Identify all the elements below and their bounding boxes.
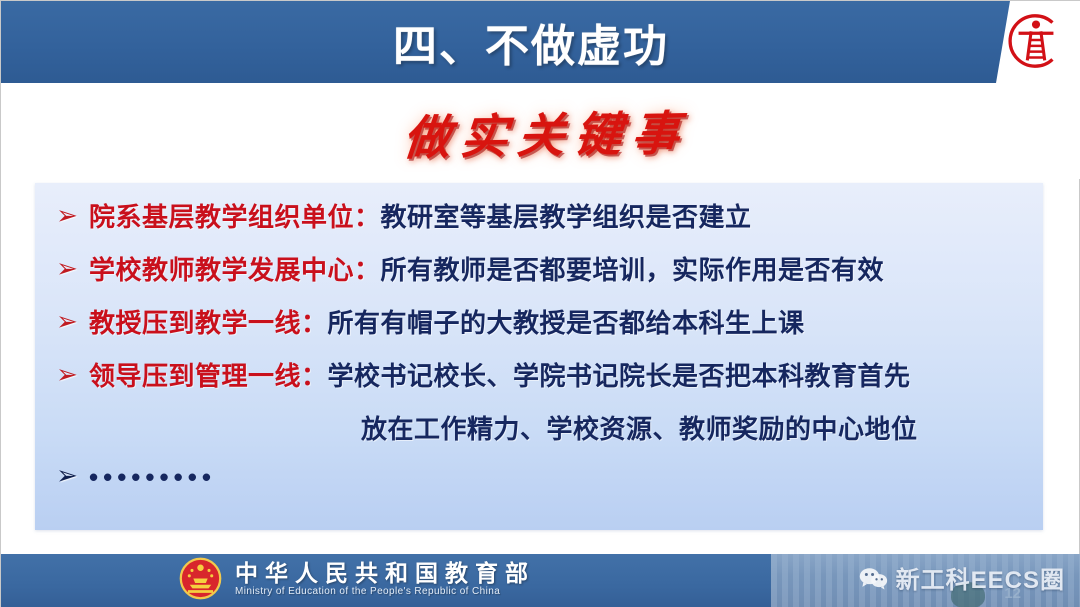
content-panel: ➢ 院系基层教学组织单位：教研室等基层教学组织是否建立 ➢ 学校教师教学发展中心… (35, 183, 1043, 530)
wechat-icon (858, 566, 888, 590)
ministry-name-en: Ministry of Education of the People's Re… (235, 586, 535, 597)
ellipsis-text: ••••••••• (89, 462, 216, 493)
arrow-bullet-icon: ➢ (45, 308, 89, 334)
arrow-bullet-icon: ➢ (45, 462, 89, 488)
page-title: 四、不做虚功 (1, 1, 1080, 83)
list-item: ➢ 领导压到管理一线：学校书记校长、学院书记院长是否把本科教育首先 (45, 356, 1033, 409)
slide-footer: 中华人民共和国教育部 Ministry of Education of the … (1, 554, 1080, 607)
subtitle-band: 做实关键事 (1, 83, 1080, 179)
slide-header: 四、不做虚功 (1, 1, 1080, 83)
list-item-text: 院系基层教学组织单位：教研室等基层教学组织是否建立 (89, 197, 752, 234)
list-item-text: 教授压到教学一线：所有有帽子的大教授是否都给本科生上课 (89, 303, 805, 340)
list-item-ellipsis: ➢ ••••••••• (45, 462, 1033, 515)
ministry-brand: 中华人民共和国教育部 Ministry of Education of the … (179, 557, 535, 600)
page-number: 12 (1004, 585, 1021, 602)
list-item-key: 院系基层教学组织单位： (89, 202, 381, 232)
watermark-text: 新工科EECS圈 (896, 560, 1065, 595)
section-subtitle: 做实关键事 (390, 94, 692, 168)
slide: 四、不做虚功 做实关键事 ➢ 院系基层教学组织单位：教研室等基层教学组织是否建立… (0, 0, 1080, 607)
list-item-key: 教授压到教学一线： (89, 308, 328, 338)
tongji-university-logo-icon (1005, 10, 1067, 72)
ministry-name-cn: 中华人民共和国教育部 (235, 560, 535, 586)
national-emblem-icon (179, 557, 222, 600)
list-item-text: 领导压到管理一线：学校书记校长、学院书记院长是否把本科教育首先 (89, 356, 911, 393)
list-item-value: 学校书记校长、学院书记院长是否把本科教育首先 (328, 361, 911, 391)
list-item-key: 学校教师教学发展中心： (89, 255, 381, 285)
ministry-text: 中华人民共和国教育部 Ministry of Education of the … (235, 560, 535, 597)
list-item: ➢ 学校教师教学发展中心：所有教师是否都要培训，实际作用是否有效 (45, 250, 1033, 303)
list-item-continuation: 放在工作精力、学校资源、教师奖励的中心地位 (45, 409, 1033, 462)
list-item: ➢ 院系基层教学组织单位：教研室等基层教学组织是否建立 (45, 197, 1033, 250)
arrow-bullet-icon: ➢ (45, 255, 89, 281)
arrow-bullet-icon: ➢ (45, 361, 89, 387)
list-item-value: 所有教师是否都要培训，实际作用是否有效 (381, 255, 885, 285)
continuation-text: 放在工作精力、学校资源、教师奖励的中心地位 (361, 409, 918, 446)
arrow-bullet-icon: ➢ (45, 202, 89, 228)
list-item: ➢ 教授压到教学一线：所有有帽子的大教授是否都给本科生上课 (45, 303, 1033, 356)
list-item-value: 教研室等基层教学组织是否建立 (381, 202, 752, 232)
watermark: 新工科EECS圈 (858, 560, 1065, 595)
list-item-text: 学校教师教学发展中心：所有教师是否都要培训，实际作用是否有效 (89, 250, 884, 287)
logo-plate (996, 1, 1080, 83)
list-item-value: 所有有帽子的大教授是否都给本科生上课 (328, 308, 805, 338)
list-item-key: 领导压到管理一线： (89, 361, 328, 391)
